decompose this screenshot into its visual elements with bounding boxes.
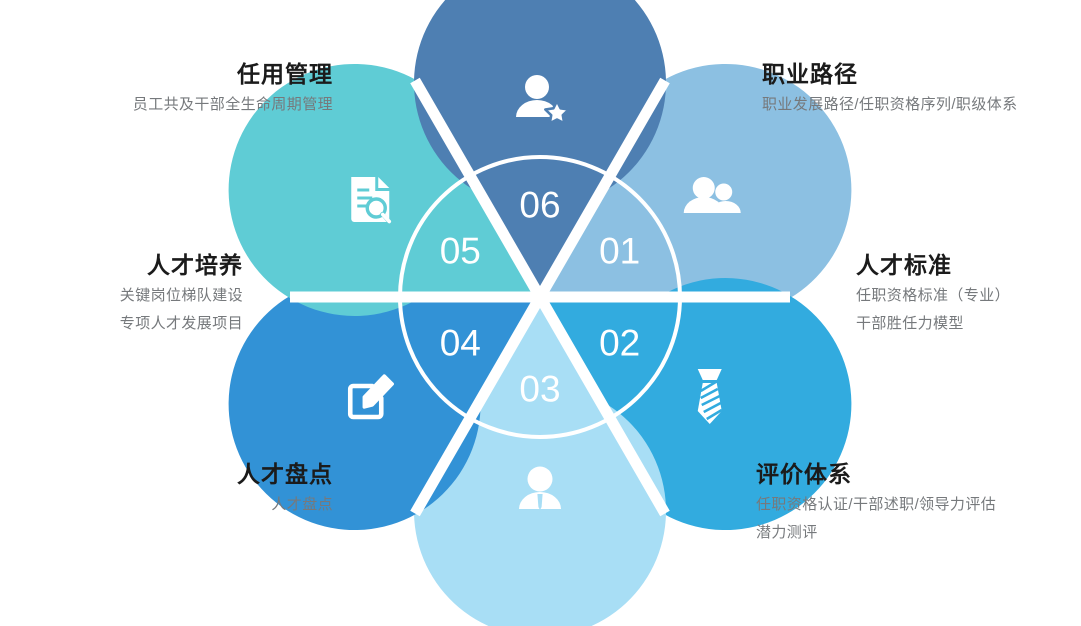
- petal-number-06: 06: [519, 185, 560, 226]
- petal-title-06: 人才培养: [120, 249, 243, 282]
- petal-title-03: 人才标准: [856, 249, 1010, 282]
- petal-subtitle-04-line-1: 任职资格认证/干部述职/领导力评估: [756, 491, 996, 519]
- petal-subtitle-04-line-2: 潜力测评: [756, 519, 996, 547]
- document-search-icon: [351, 177, 389, 222]
- petal-number-02: 02: [599, 323, 640, 364]
- petal-title-05: 人才盘点: [237, 458, 333, 491]
- petal-title-02: 职业路径: [762, 58, 1018, 91]
- petal-subtitle-06-line-1: 关键岗位梯队建设: [120, 282, 243, 310]
- petal-number-03: 03: [519, 369, 560, 410]
- petal-label-05: 人才盘点 人才盘点: [237, 458, 333, 519]
- petal-subtitle-03-line-2: 干部胜任力模型: [856, 310, 1010, 338]
- petal-subtitle-05-line-1: 人才盘点: [237, 491, 333, 519]
- petal-subtitle-06-line-2: 专项人才发展项目: [120, 310, 243, 338]
- petal-title-01: 任用管理: [133, 58, 333, 91]
- petal-number-05: 05: [440, 231, 481, 272]
- petal-label-06: 人才培养 关键岗位梯队建设 专项人才发展项目: [120, 249, 243, 338]
- petal-label-04: 评价体系 任职资格认证/干部述职/领导力评估 潜力测评: [756, 458, 996, 547]
- petal-number-01: 01: [599, 231, 640, 272]
- petal-title-04: 评价体系: [756, 458, 996, 491]
- petal-label-02: 职业路径 职业发展路径/任职资格序列/职级体系: [762, 58, 1018, 119]
- petal-subtitle-03-line-1: 任职资格标准（专业）: [856, 282, 1010, 310]
- petal-subtitle-01-line-1: 员工共及干部全生命周期管理: [133, 91, 333, 119]
- petal-label-01: 任用管理 员工共及干部全生命周期管理: [133, 58, 333, 119]
- petal-label-03: 人才标准 任职资格标准（专业） 干部胜任力模型: [856, 249, 1010, 338]
- petal-number-04: 04: [440, 323, 481, 364]
- petal-subtitle-02-line-1: 职业发展路径/任职资格序列/职级体系: [762, 91, 1018, 119]
